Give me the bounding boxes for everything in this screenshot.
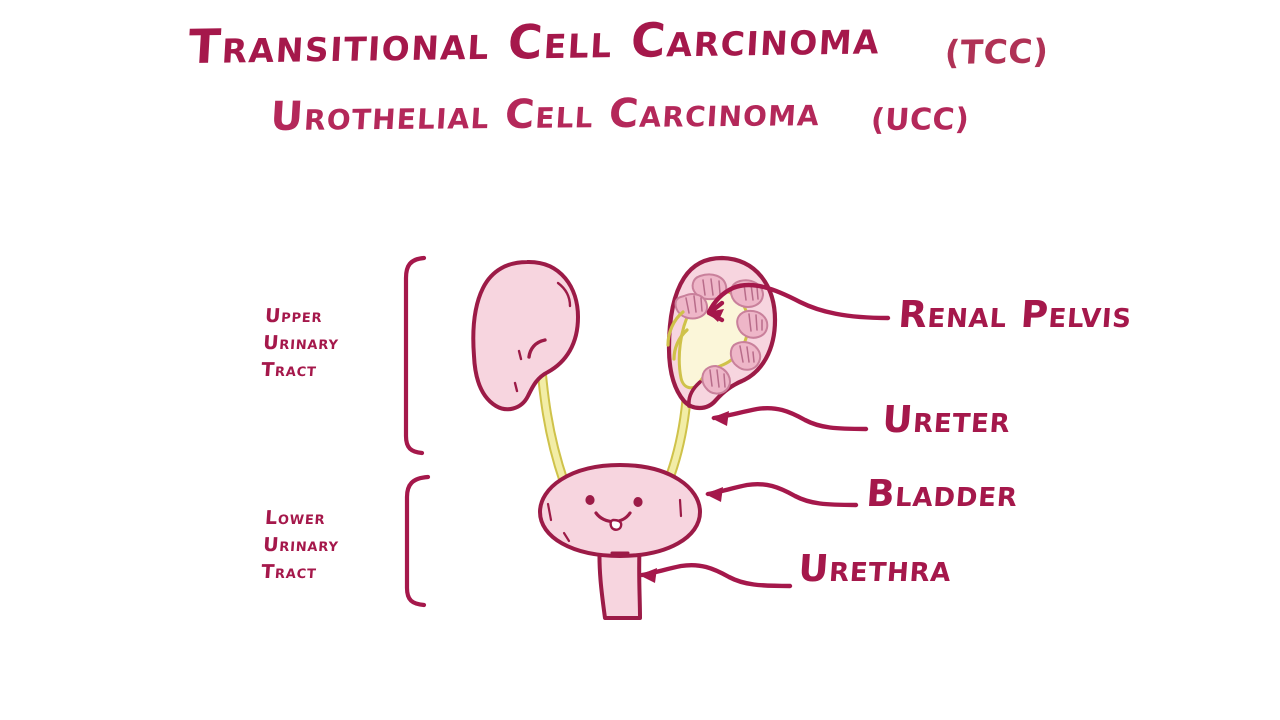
bladder-leader xyxy=(705,484,856,505)
lower-urinary-tract-label: Lower Urinary Tract xyxy=(260,505,341,586)
bladder xyxy=(540,465,700,618)
upper-urinary-tract-label: Upper Urinary Tract xyxy=(260,303,341,384)
page-subtitle-abbreviation: (UCC) xyxy=(870,102,970,138)
page-title-abbreviation: (TCC) xyxy=(944,32,1050,72)
right-kidney-cross-section xyxy=(668,258,775,408)
left-kidney xyxy=(473,262,578,409)
urethra-label: Urethra xyxy=(797,547,953,590)
slide-canvas: Transitional Cell Carcinoma (TCC) Urothe… xyxy=(0,0,1280,720)
page-subtitle: Urothelial Cell Carcinoma xyxy=(269,89,821,140)
urethra-leader xyxy=(639,565,790,586)
ureter-label: Ureter xyxy=(881,398,1012,441)
upper-tract-bracket xyxy=(406,258,424,453)
lower-tract-bracket xyxy=(407,477,428,605)
bladder-label: Bladder xyxy=(865,472,1019,515)
renal-pelvis-label: Renal Pelvis xyxy=(897,293,1134,336)
page-title: Transitional Cell Carcinoma xyxy=(187,10,882,75)
ureter-leader xyxy=(711,408,866,429)
